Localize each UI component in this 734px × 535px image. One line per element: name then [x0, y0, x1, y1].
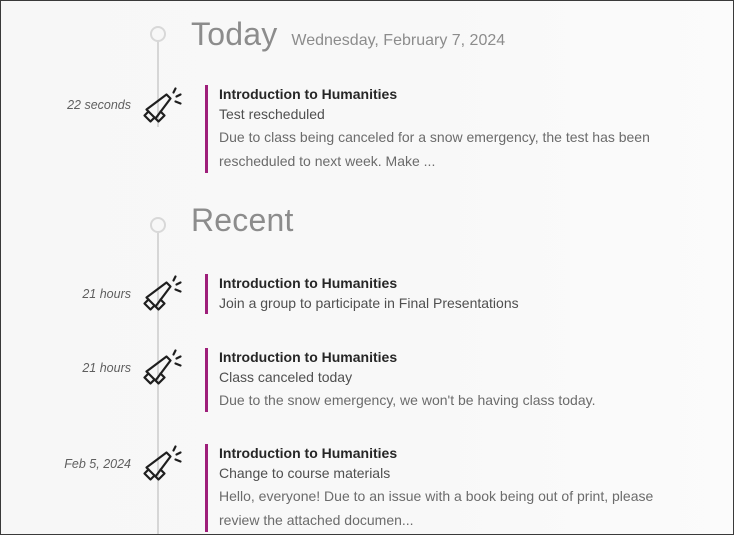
section-title-today: Today	[191, 18, 277, 50]
notification-preview-line: Hello, everyone! Due to an issue with a …	[219, 484, 695, 508]
notification-content: Introduction to Humanities Test reschedu…	[205, 85, 695, 173]
notification-subject: Class canceled today	[219, 368, 695, 388]
notification-timestamp: Feb 5, 2024	[1, 458, 131, 471]
notification-course: Introduction to Humanities	[219, 85, 695, 105]
section-title-recent: Recent	[191, 204, 294, 236]
notification-preview-line: Due to the snow emergency, we won't be h…	[219, 388, 695, 412]
section-header-today: Today Wednesday, February 7, 2024	[191, 18, 505, 50]
notification-subject: Test rescheduled	[219, 105, 695, 125]
section-header-recent: Recent	[191, 204, 294, 236]
megaphone-icon	[135, 443, 185, 493]
notification-course: Introduction to Humanities	[219, 274, 695, 294]
notification-preview-line: review the attached documen...	[219, 508, 695, 532]
megaphone-icon	[135, 85, 185, 135]
megaphone-icon	[135, 347, 185, 397]
notification-timestamp: 21 hours	[1, 288, 131, 301]
notification-timestamp: 21 hours	[1, 362, 131, 375]
notification-subject: Join a group to participate in Final Pre…	[219, 294, 695, 314]
megaphone-icon	[135, 273, 185, 323]
section-date-today: Wednesday, February 7, 2024	[291, 33, 505, 49]
notification-content: Introduction to Humanities Join a group …	[205, 274, 695, 314]
timeline-dot-today	[150, 26, 166, 42]
timeline-dot-recent	[150, 217, 166, 233]
notification-content: Introduction to Humanities Change to cou…	[205, 444, 695, 532]
notification-content: Introduction to Humanities Class cancele…	[205, 348, 695, 412]
notification-course: Introduction to Humanities	[219, 444, 695, 464]
notification-subject: Change to course materials	[219, 464, 695, 484]
notification-preview-line: Due to class being canceled for a snow e…	[219, 125, 695, 149]
notification-preview-line: rescheduled to next week. Make ...	[219, 149, 695, 173]
notifications-stream: Today Wednesday, February 7, 2024 22 sec…	[0, 0, 734, 535]
notification-course: Introduction to Humanities	[219, 348, 695, 368]
notification-timestamp: 22 seconds	[1, 99, 131, 112]
